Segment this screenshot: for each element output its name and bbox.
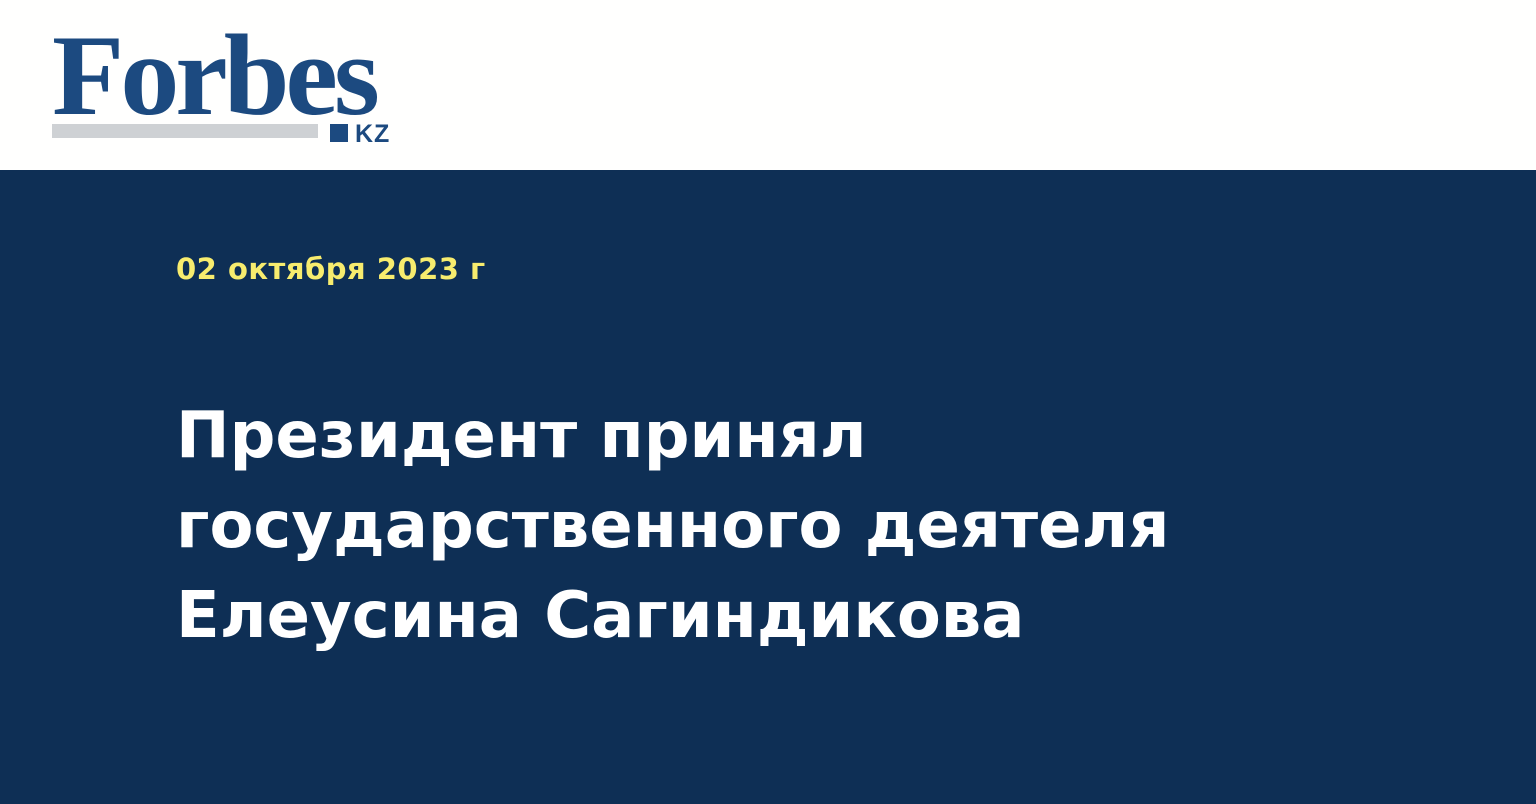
headline-line: государственного деятеля — [176, 481, 1176, 571]
article-hero-banner: 02 октября 2023 г Президент принял госуд… — [0, 170, 1536, 804]
headline-line: Елеусина Сагиндикова — [176, 571, 1176, 661]
blue-square-icon — [330, 124, 348, 142]
logo-kz-suffix: KZ — [355, 122, 390, 147]
site-header: Forbes KZ — [0, 0, 1536, 170]
article-publish-date: 02 октября 2023 г — [176, 252, 486, 286]
article-headline: Президент принял государственного деятел… — [176, 391, 1176, 661]
headline-line: Президент принял — [176, 391, 1176, 481]
article-hero-page: Forbes KZ 02 октября 2023 г Президент пр… — [0, 0, 1536, 804]
logo-rule-divider — [52, 124, 318, 138]
forbes-kz-logo[interactable]: Forbes KZ — [52, 18, 412, 148]
forbes-wordmark: Forbes — [52, 18, 376, 134]
